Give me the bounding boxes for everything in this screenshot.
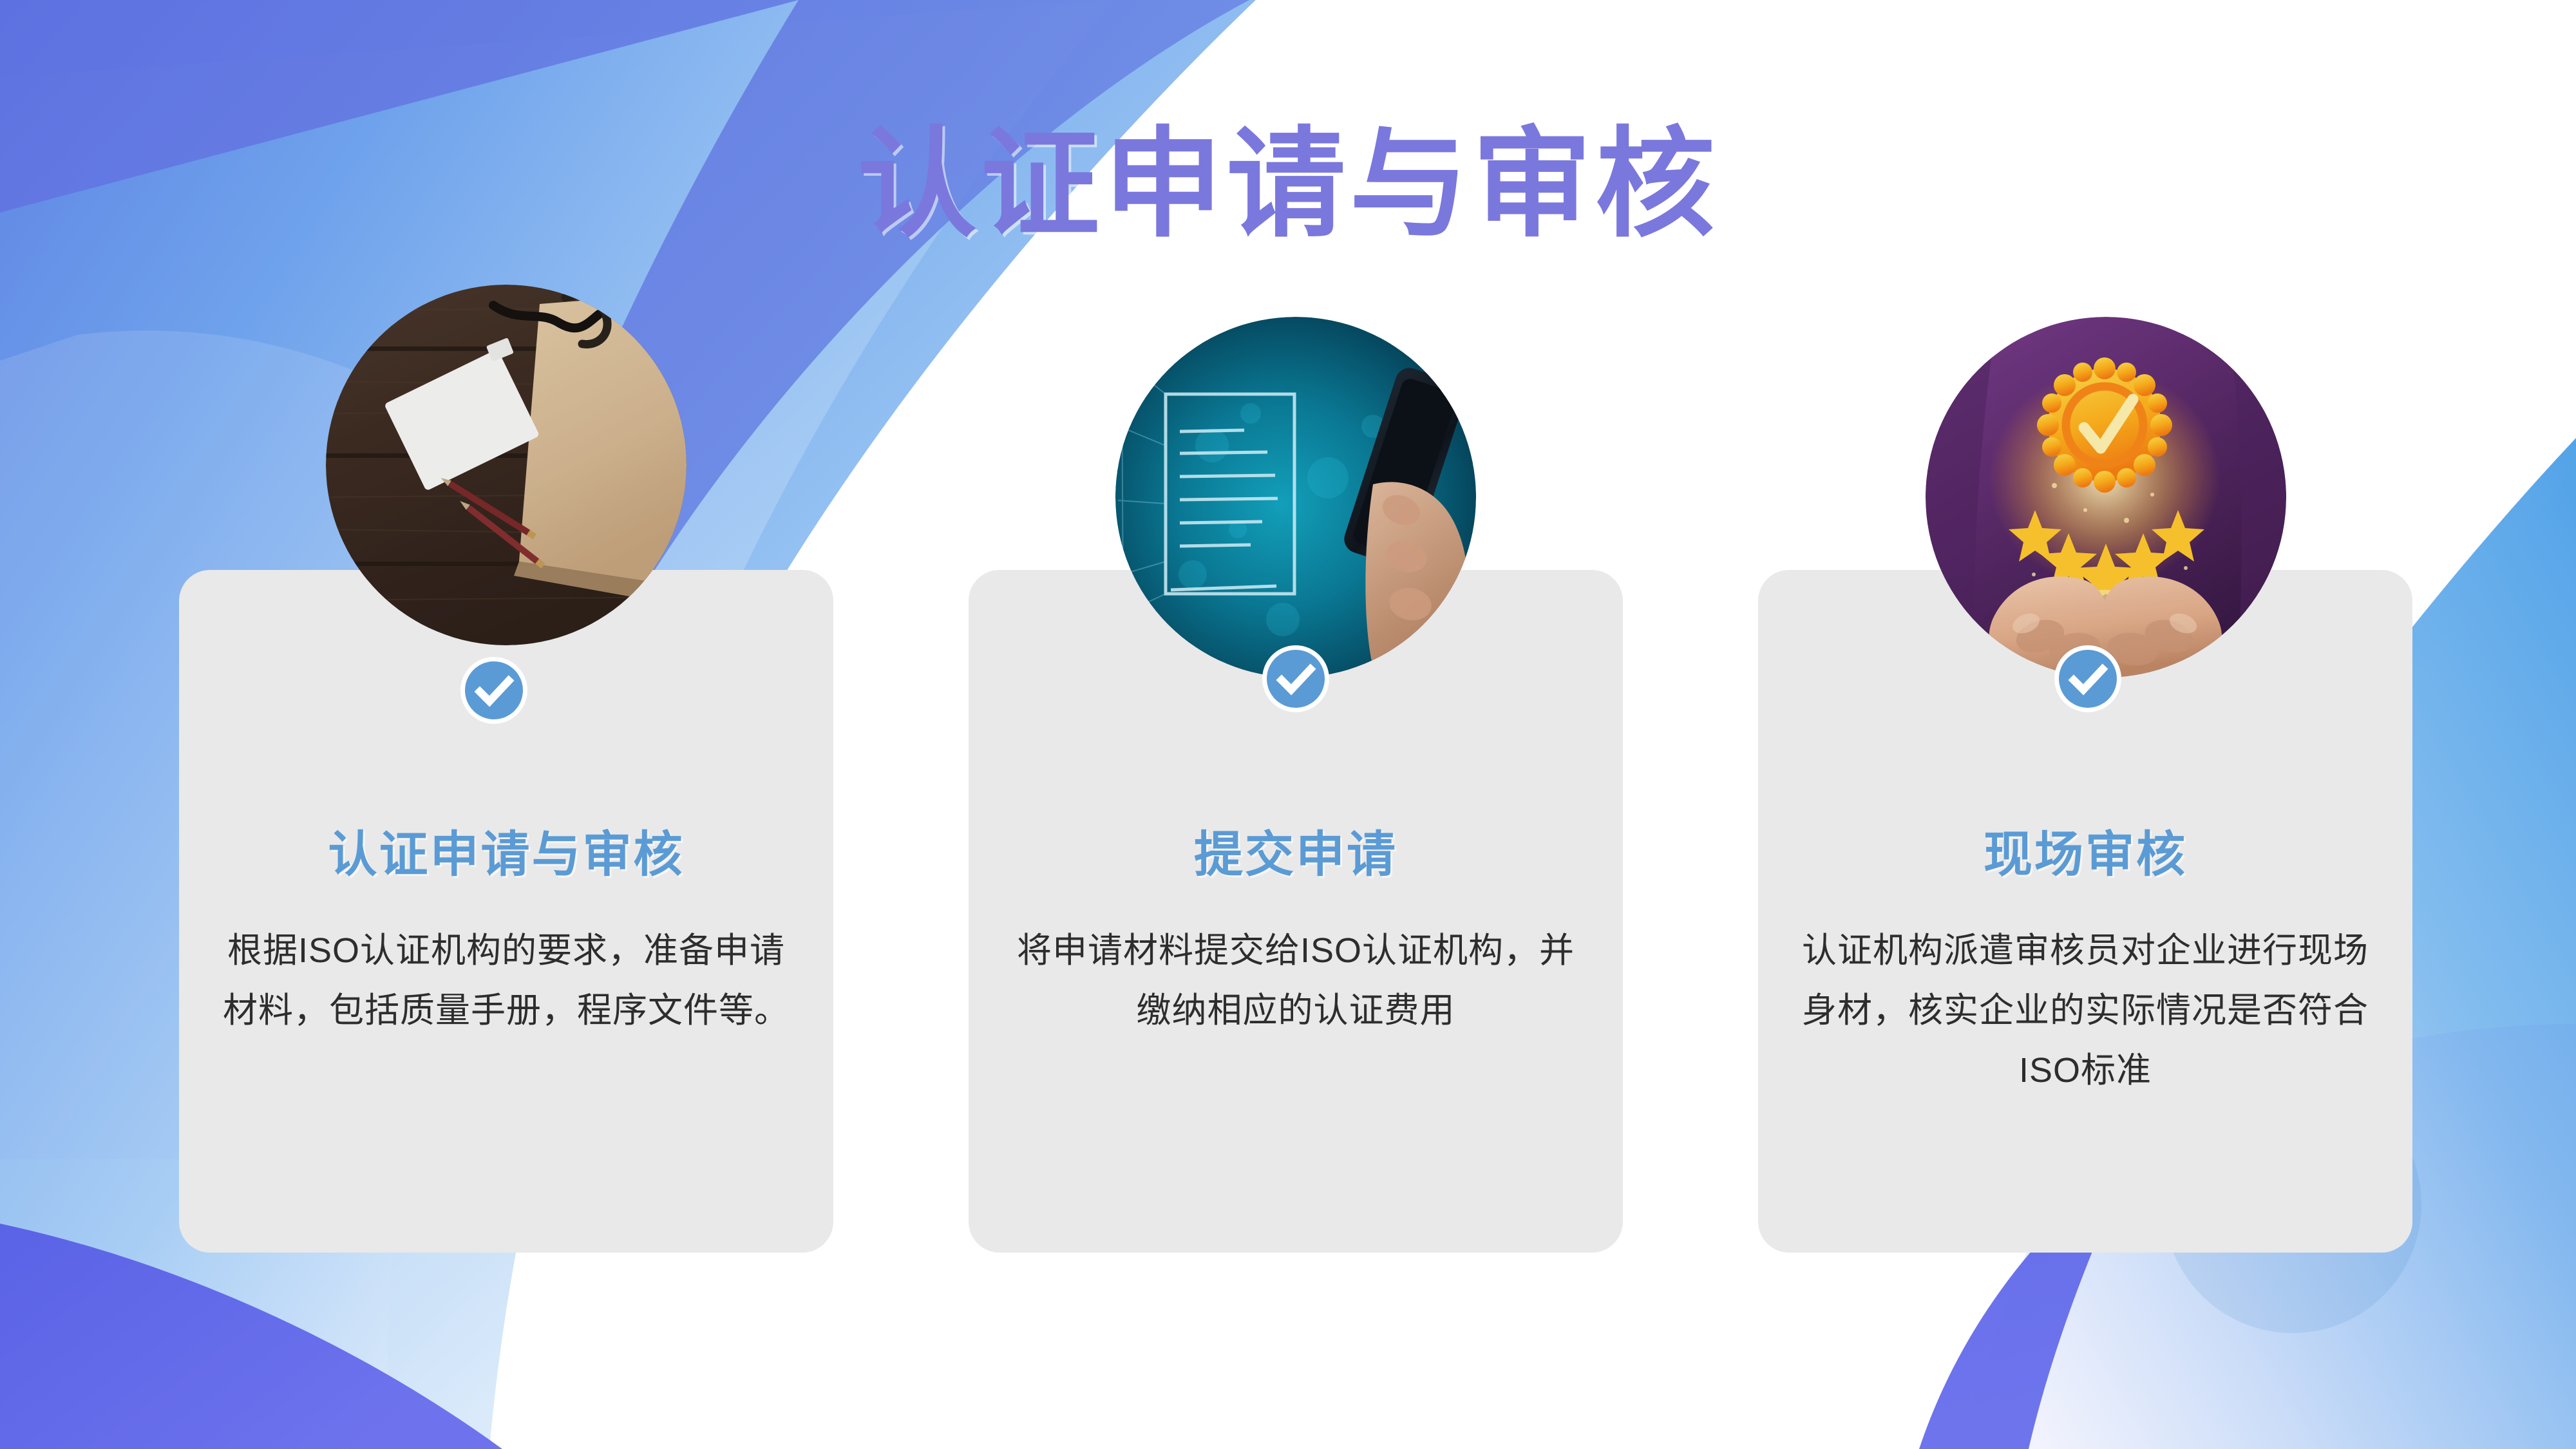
teal-digital-document-image — [1115, 317, 1476, 677]
card-body-2: 将申请材料提交给ISO认证机构，并缴纳相应的认证费用 — [1006, 921, 1586, 1041]
card-title-1: 认证申请与审核 — [179, 815, 833, 885]
check-circle-icon-3 — [2053, 644, 2123, 714]
card-title-3: 现场审核 — [1758, 815, 2412, 885]
card-body-3: 认证机构派遣审核员对企业进行现场身材，核实企业的实际情况是否符合ISO标准 — [1795, 921, 2375, 1101]
card-photo-2 — [1115, 317, 1476, 677]
purple-hands-award-image — [1926, 317, 2286, 677]
wood-desk-tag-image — [326, 285, 687, 645]
card-photo-1 — [326, 285, 687, 645]
card-title-2: 提交申请 — [969, 815, 1623, 885]
check-circle-icon-2 — [1261, 644, 1331, 714]
card-photo-3 — [1926, 317, 2286, 677]
slide-canvas: 认证申请与审核 认证申请与审核 根据ISO认证机构的要求，准备申请材料，包括质量… — [0, 0, 2576, 1449]
card-body-1: 根据ISO认证机构的要求，准备申请材料，包括质量手册，程序文件等。 — [216, 921, 796, 1041]
page-title: 认证申请与审核 — [0, 126, 2576, 245]
check-circle-icon-1 — [459, 656, 529, 725]
